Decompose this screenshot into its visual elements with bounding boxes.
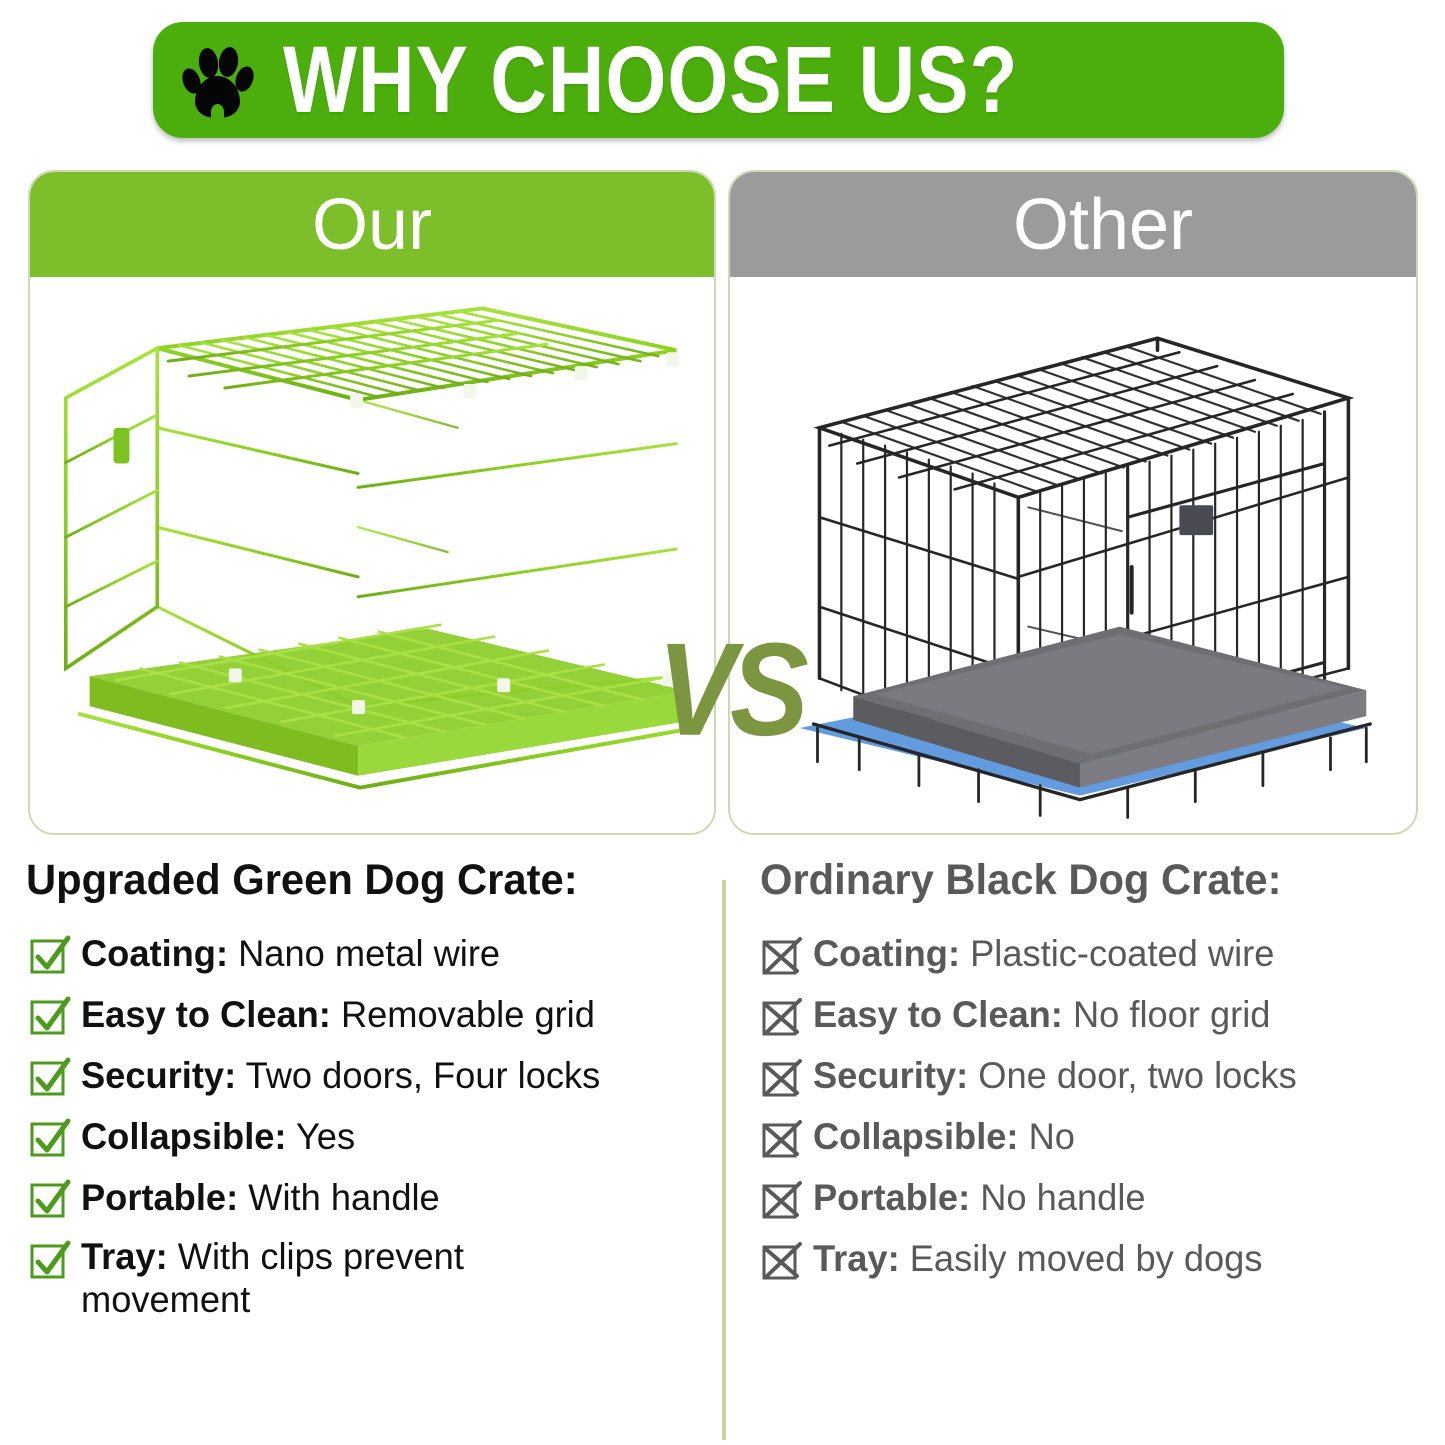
feature-label: Coating:: [81, 933, 228, 974]
cross-mark-icon: [762, 938, 802, 978]
other-tab-label: Other: [1013, 189, 1193, 261]
cross-mark-icon: [762, 1060, 802, 1100]
other-product-image: [730, 277, 1416, 835]
feature-comparison-lists: Upgraded Green Dog Crate: Coating: Nano …: [0, 858, 1445, 1438]
cross-mark-icon: [762, 1121, 802, 1161]
other-product-panel: Other: [728, 170, 1418, 835]
column-divider: [722, 880, 726, 1440]
check-mark-icon: [30, 1060, 70, 1100]
list-item: Collapsible: No: [748, 1114, 1438, 1161]
feature-value: Yes: [287, 1116, 356, 1157]
cross-mark-icon: [762, 1243, 802, 1283]
list-item: Security: Two doors, Four locks: [26, 1053, 714, 1100]
feature-value: With handle: [238, 1177, 440, 1218]
feature-value: Removable grid: [331, 994, 595, 1035]
cross-mark-icon: [762, 1182, 802, 1222]
feature-value: Plastic-coated wire: [960, 933, 1274, 974]
feature-label: Easy to Clean:: [81, 994, 331, 1035]
check-mark-icon: [30, 999, 70, 1039]
list-item: Coating: Nano metal wire: [26, 931, 714, 978]
green-crate-illustration: [30, 277, 714, 835]
other-tab-header: Other: [730, 172, 1416, 277]
feature-value: One door, two locks: [968, 1055, 1297, 1096]
list-item: Security: One door, two locks: [748, 1053, 1438, 1100]
feature-label: Portable:: [81, 1177, 238, 1218]
other-list-heading: Ordinary Black Dog Crate:: [760, 858, 1418, 903]
feature-label: Collapsible:: [81, 1116, 287, 1157]
feature-label: Collapsible:: [813, 1116, 1019, 1157]
paw-print-icon: [181, 42, 253, 120]
banner-title: WHY CHOOSE US?: [283, 33, 1018, 127]
list-item: Tray: With clips prevent movement: [26, 1236, 714, 1322]
feature-label: Easy to Clean:: [813, 994, 1063, 1035]
our-list-heading: Upgraded Green Dog Crate:: [26, 858, 693, 903]
why-choose-us-banner: WHY CHOOSE US?: [153, 22, 1284, 138]
our-tab-header: Our: [30, 172, 714, 277]
check-mark-icon: [30, 1121, 70, 1161]
list-item: Coating: Plastic-coated wire: [748, 931, 1438, 978]
comparison-panels: Our: [0, 170, 1445, 840]
feature-label: Portable:: [813, 1177, 970, 1218]
feature-value: Easily moved by dogs: [900, 1238, 1263, 1279]
check-mark-icon: [30, 1182, 70, 1222]
feature-label: Tray:: [813, 1238, 900, 1279]
list-item: Collapsible: Yes: [26, 1114, 714, 1161]
feature-value: No handle: [970, 1177, 1145, 1218]
black-crate-illustration: [730, 277, 1416, 835]
feature-label: Coating:: [813, 933, 960, 974]
feature-value: Nano metal wire: [228, 933, 500, 974]
list-item: Tray: Easily moved by dogs: [748, 1236, 1438, 1283]
our-product-panel: Our: [28, 170, 716, 835]
list-item: Portable: With handle: [26, 1175, 714, 1222]
feature-label: Security:: [81, 1055, 236, 1096]
our-tab-label: Our: [312, 189, 432, 261]
feature-label: Security:: [813, 1055, 968, 1096]
list-item: Easy to Clean: Removable grid: [26, 992, 714, 1039]
feature-value: Two doors, Four locks: [236, 1055, 600, 1096]
check-mark-icon: [30, 938, 70, 978]
other-feature-column: Ordinary Black Dog Crate: Coating: Plast…: [748, 858, 1438, 1297]
feature-label: Tray:: [81, 1236, 168, 1277]
cross-mark-icon: [762, 999, 802, 1039]
list-item: Easy to Clean: No floor grid: [748, 992, 1438, 1039]
our-product-image: [30, 277, 714, 835]
our-feature-column: Upgraded Green Dog Crate: Coating: Nano …: [26, 858, 714, 1336]
feature-value: No floor grid: [1063, 994, 1271, 1035]
list-item: Portable: No handle: [748, 1175, 1438, 1222]
feature-value: No: [1019, 1116, 1075, 1157]
check-mark-icon: [30, 1243, 70, 1283]
